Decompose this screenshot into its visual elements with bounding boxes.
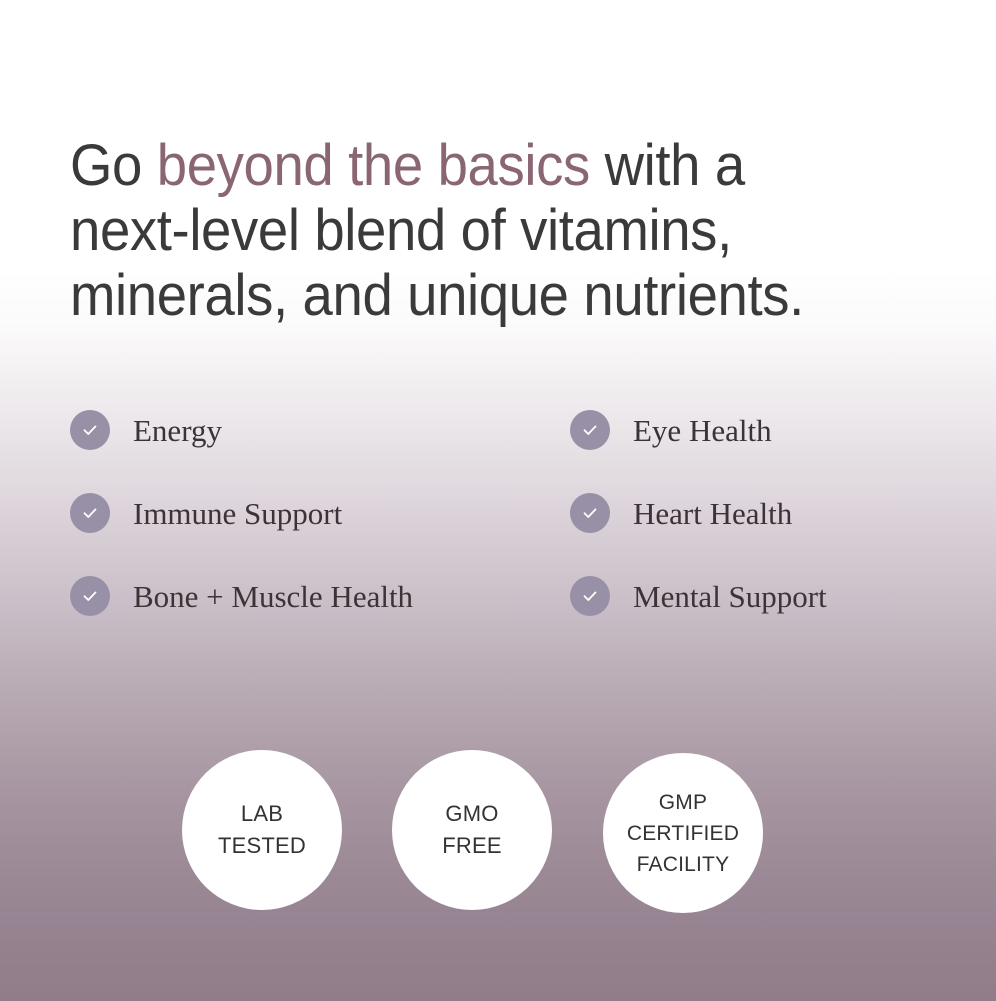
certification-badges: LAB TESTED GMO FREE GMP CERTIFIED FACILI… <box>182 750 763 913</box>
benefit-label: Mental Support <box>633 581 827 612</box>
benefits-list: Energy Immune Support Bone + Muscle Heal… <box>70 410 950 616</box>
headline-part-before-accent: Go <box>70 133 157 198</box>
check-circle-icon <box>570 493 610 533</box>
headline-accent-phrase: beyond the basics <box>157 133 590 198</box>
badge-label: LAB TESTED <box>218 798 306 862</box>
badge-lab-tested: LAB TESTED <box>182 750 342 910</box>
badge-gmp-certified-facility: GMP CERTIFIED FACILITY <box>603 753 763 913</box>
check-circle-icon <box>570 576 610 616</box>
list-item: Energy <box>70 410 570 450</box>
list-item: Mental Support <box>570 576 950 616</box>
list-item: Immune Support <box>70 493 570 533</box>
check-circle-icon <box>570 410 610 450</box>
badge-label: GMP CERTIFIED FACILITY <box>627 787 739 880</box>
product-benefits-promo-panel: Go beyond the basics with a next-level b… <box>0 0 996 1001</box>
page-title: Go beyond the basics with a next-level b… <box>70 133 850 328</box>
check-circle-icon <box>70 410 110 450</box>
benefit-label: Heart Health <box>633 498 792 529</box>
benefits-column-left: Energy Immune Support Bone + Muscle Heal… <box>70 410 570 616</box>
badge-label: GMO FREE <box>442 798 501 862</box>
benefit-label: Eye Health <box>633 415 772 446</box>
benefit-label: Immune Support <box>133 498 342 529</box>
benefit-label: Energy <box>133 415 222 446</box>
list-item: Bone + Muscle Health <box>70 576 570 616</box>
badge-gmo-free: GMO FREE <box>392 750 552 910</box>
benefit-label: Bone + Muscle Health <box>133 581 413 612</box>
list-item: Heart Health <box>570 493 950 533</box>
check-circle-icon <box>70 576 110 616</box>
check-circle-icon <box>70 493 110 533</box>
list-item: Eye Health <box>570 410 950 450</box>
benefits-column-right: Eye Health Heart Health Mental Support <box>570 410 950 616</box>
